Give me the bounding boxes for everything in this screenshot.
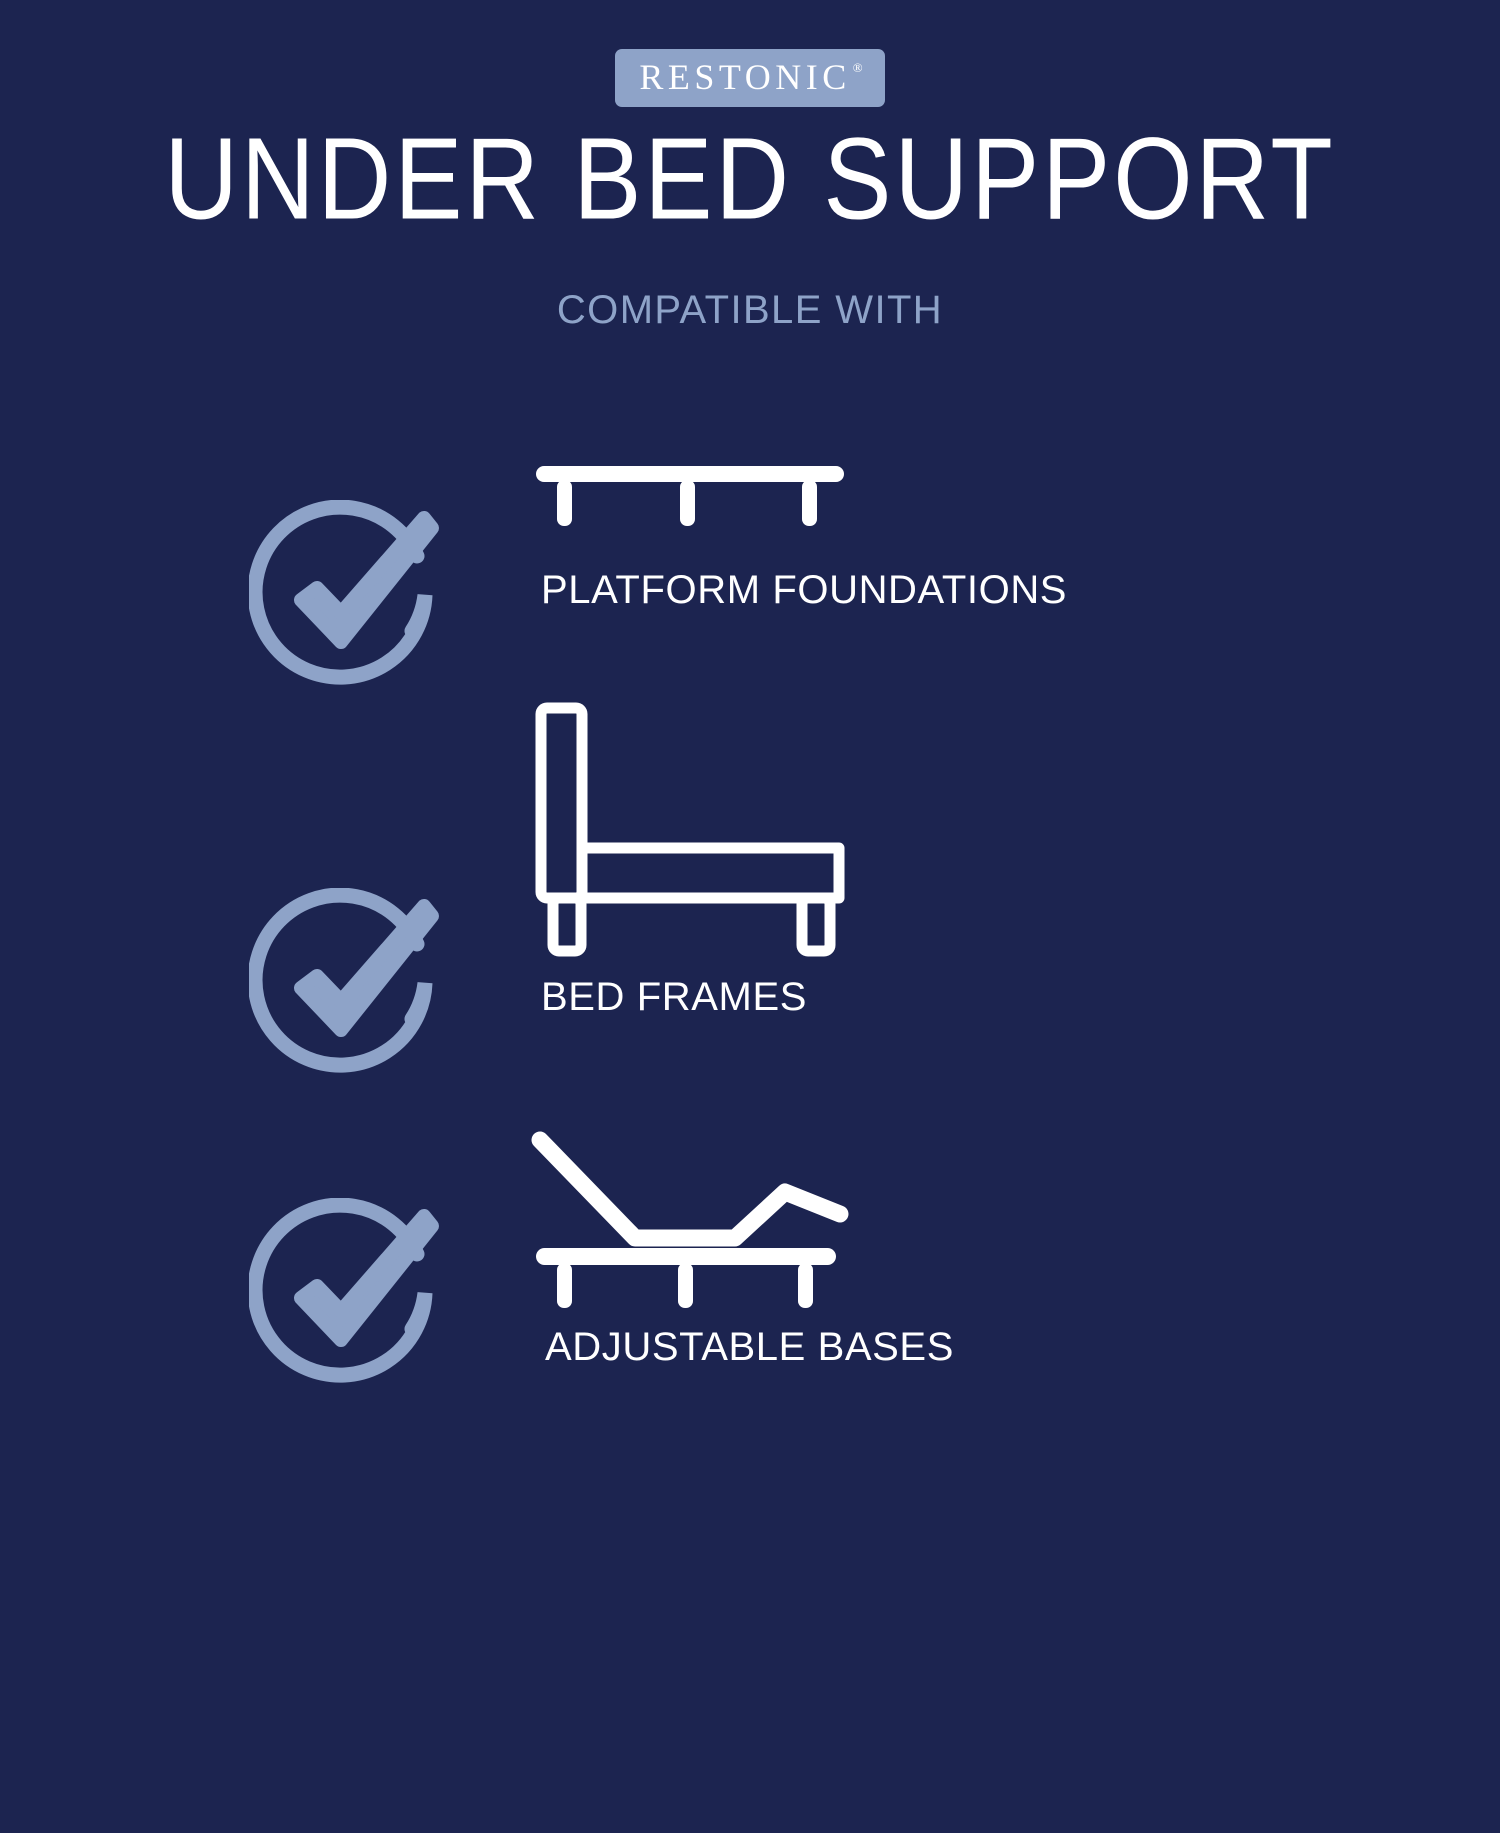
platform-foundation-icon — [530, 460, 850, 535]
compatibility-row: BED FRAMES — [0, 790, 1500, 1130]
page-subtitle: COMPATIBLE WITH — [0, 288, 1500, 333]
brand-logo: RESTONIC ® — [0, 49, 1500, 107]
registered-trademark-icon: ® — [853, 61, 863, 74]
circle-check-icon — [249, 500, 439, 690]
adjustable-base-icon — [530, 1130, 850, 1320]
infographic-page: RESTONIC ® UNDER BED SUPPORT COMPATIBLE … — [0, 0, 1500, 1833]
item-label: ADJUSTABLE BASES — [545, 1325, 954, 1370]
compatibility-row: ADJUSTABLE BASES — [0, 1150, 1500, 1490]
brand-name: RESTONIC — [639, 59, 850, 95]
circle-check-icon — [249, 888, 439, 1078]
item-label: BED FRAMES — [541, 975, 807, 1020]
brand-badge: RESTONIC ® — [615, 49, 884, 107]
bed-frame-icon — [530, 700, 850, 965]
page-title: UNDER BED SUPPORT — [0, 118, 1500, 240]
circle-check-icon — [249, 1198, 439, 1388]
item-label: PLATFORM FOUNDATIONS — [541, 568, 1067, 613]
